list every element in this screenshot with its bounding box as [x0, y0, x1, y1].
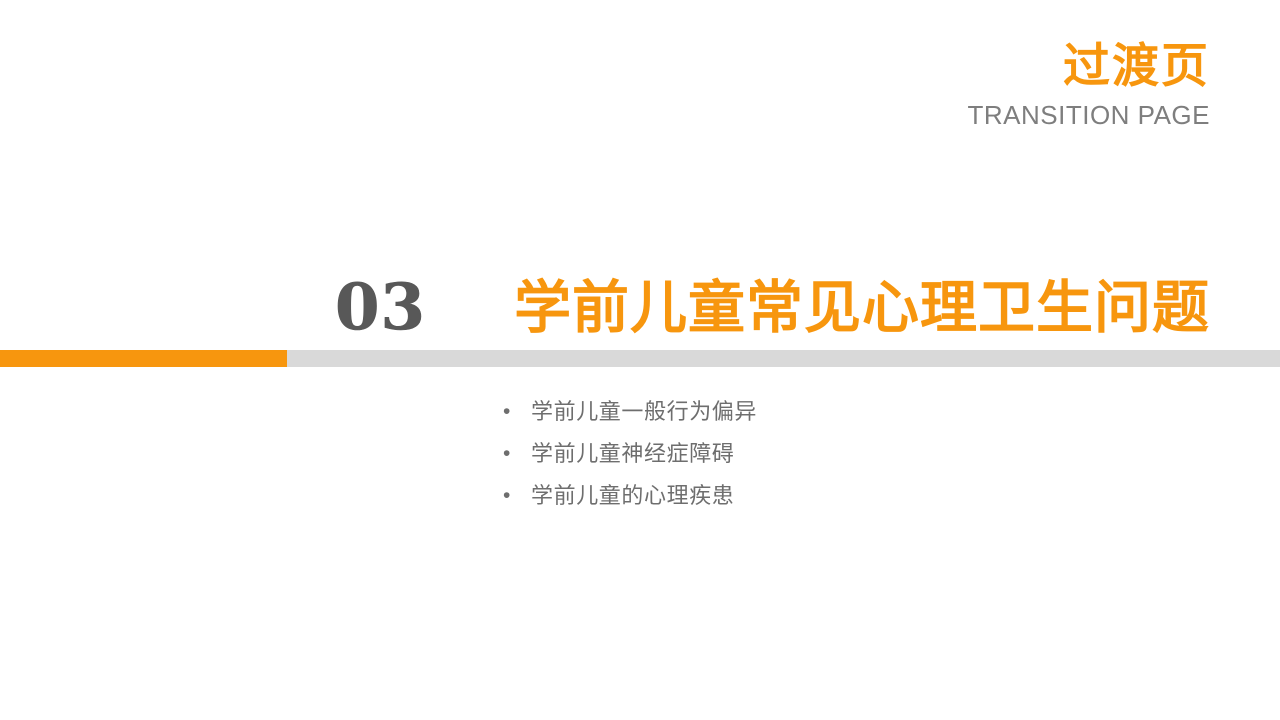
divider-bar-gray-segment: [287, 350, 1280, 367]
list-item-label: 学前儿童一般行为偏异: [531, 391, 757, 433]
divider-bar-accent-segment: [0, 350, 287, 367]
bullet-dot-icon: •: [503, 433, 531, 475]
corner-header-cn-title: 过渡页: [790, 40, 1210, 93]
list-item: • 学前儿童一般行为偏异: [503, 391, 757, 433]
bullet-dot-icon: •: [503, 391, 531, 433]
agenda-bullet-list: • 学前儿童一般行为偏异 • 学前儿童神经症障碍 • 学前儿童的心理疾患: [503, 391, 757, 517]
bullet-dot-icon: •: [503, 475, 531, 517]
divider-bar: [0, 350, 1280, 367]
section-title-row: 03 学前儿童常见心理卫生问题: [335, 272, 1210, 344]
list-item-label: 学前儿童的心理疾患: [531, 475, 734, 517]
section-title: 学前儿童常见心理卫生问题: [514, 280, 1210, 337]
list-item: • 学前儿童的心理疾患: [503, 475, 757, 517]
section-number: 03: [335, 276, 426, 340]
corner-header: 过渡页 TRANSITION PAGE: [790, 40, 1210, 134]
slide-canvas: 过渡页 TRANSITION PAGE 03 学前儿童常见心理卫生问题 • 学前…: [0, 0, 1280, 720]
list-item-label: 学前儿童神经症障碍: [531, 433, 734, 475]
list-item: • 学前儿童神经症障碍: [503, 433, 757, 475]
corner-header-en-title: TRANSITION PAGE: [790, 97, 1210, 134]
